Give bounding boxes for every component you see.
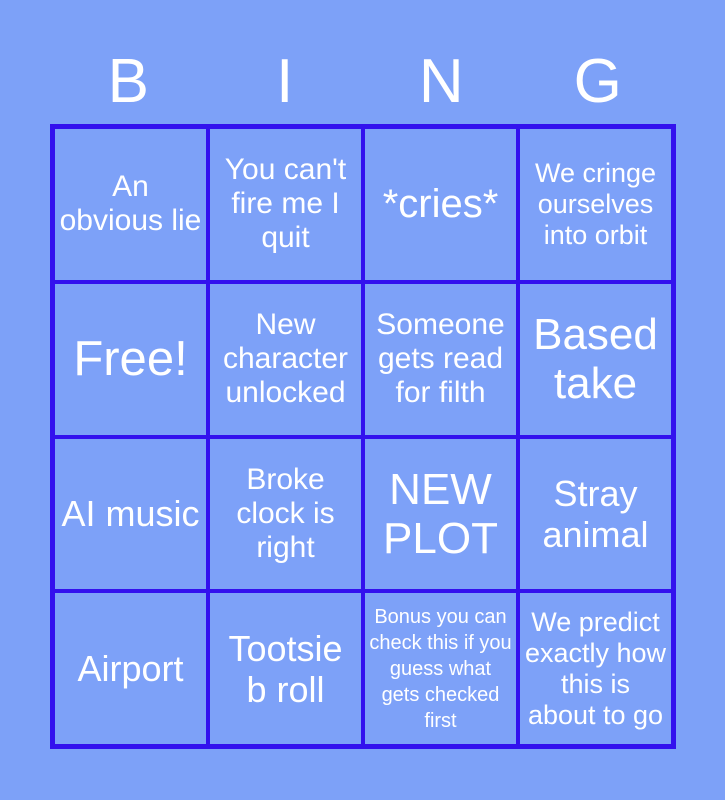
bingo-cell-label: Someone gets read for filth <box>369 308 512 410</box>
bingo-cell-label: Airport <box>59 648 202 689</box>
bingo-cell[interactable]: Tootsie b roll <box>210 593 361 744</box>
bingo-cell[interactable]: You can't fire me I quit <box>210 129 361 280</box>
header-letter-i: I <box>207 49 364 115</box>
bingo-cell[interactable]: We cringe ourselves into orbit <box>520 129 671 280</box>
bingo-cell-label: We cringe ourselves into orbit <box>524 158 667 251</box>
bingo-cell[interactable]: An obvious lie <box>55 129 206 280</box>
bingo-header: B I N G <box>50 42 676 122</box>
bingo-cell-label: We predict exactly how this is about to … <box>524 607 667 731</box>
header-letter-g: G <box>520 49 677 115</box>
bingo-cell-label: Stray animal <box>524 473 667 555</box>
bingo-cell-label: AI music <box>59 493 202 534</box>
bingo-cell[interactable]: Bonus you can check this if you guess wh… <box>365 593 516 744</box>
bingo-cell[interactable]: *cries* <box>365 129 516 280</box>
bingo-cell[interactable]: Based take <box>520 284 671 435</box>
bingo-cell-label: Based take <box>524 310 667 408</box>
bingo-cell-label: An obvious lie <box>59 170 202 238</box>
bingo-cell[interactable]: Someone gets read for filth <box>365 284 516 435</box>
bingo-cell-label: New character unlocked <box>214 308 357 410</box>
bingo-cell[interactable]: We predict exactly how this is about to … <box>520 593 671 744</box>
bingo-cell-label: You can't fire me I quit <box>214 153 357 255</box>
bingo-cell-label: Tootsie b roll <box>214 628 357 710</box>
bingo-cell[interactable]: Airport <box>55 593 206 744</box>
bingo-cell[interactable]: AI music <box>55 439 206 590</box>
bingo-cell-label: NEW PLOT <box>369 465 512 563</box>
bingo-cell-free[interactable]: Free! <box>55 284 206 435</box>
bingo-cell[interactable]: Broke clock is right <box>210 439 361 590</box>
bingo-cell-label: Bonus you can check this if you guess wh… <box>369 604 512 734</box>
bingo-cell-label: *cries* <box>369 182 512 227</box>
bingo-card: B I N G An obvious lie You can't fire me… <box>0 0 725 800</box>
bingo-cell-label: Free! <box>59 332 202 386</box>
header-letter-n: N <box>363 49 520 115</box>
header-letter-b: B <box>50 49 207 115</box>
bingo-cell-label: Broke clock is right <box>214 463 357 565</box>
bingo-cell[interactable]: Stray animal <box>520 439 671 590</box>
bingo-cell[interactable]: New character unlocked <box>210 284 361 435</box>
bingo-cell[interactable]: NEW PLOT <box>365 439 516 590</box>
bingo-grid: An obvious lie You can't fire me I quit … <box>50 124 676 749</box>
